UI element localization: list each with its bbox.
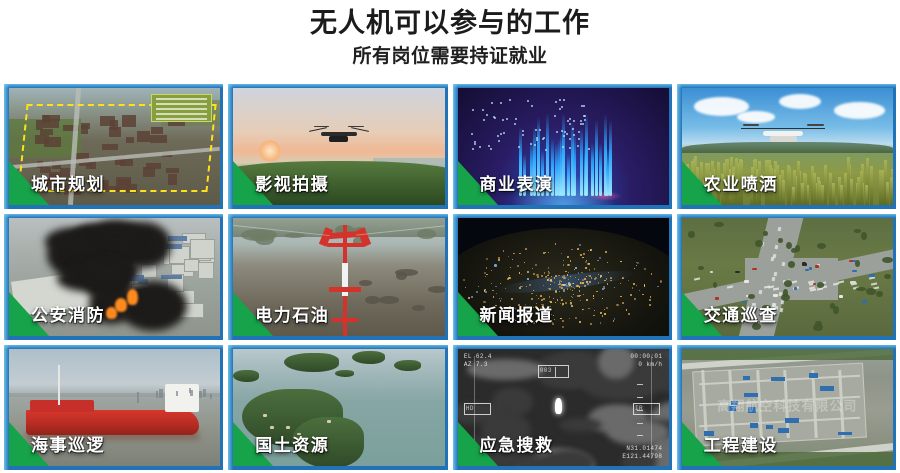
card-traffic-patrol[interactable]: 交通巡查	[677, 214, 896, 339]
card-power-petroleum[interactable]: 电力石油	[228, 214, 447, 339]
card-news-reporting[interactable]: 新闻报道	[453, 214, 672, 339]
card-photo: 影视拍摄	[233, 88, 444, 205]
card-film-shooting[interactable]: 影视拍摄	[228, 84, 447, 209]
card-engineering-construction[interactable]: 高翔航空科技有限公司工程建设	[677, 345, 896, 470]
card-photo: 新闻报道	[458, 218, 669, 335]
card-commercial-performance[interactable]: 商业表演	[453, 84, 672, 209]
card-photo: 海事巡逻	[9, 349, 220, 466]
card-police-firefighting[interactable]: 公安消防	[4, 214, 223, 339]
card-label: 商业表演	[480, 170, 554, 195]
card-photo: 高翔航空科技有限公司工程建设	[682, 349, 893, 466]
card-photo: 农业喷洒	[682, 88, 893, 205]
card-label: 工程建设	[704, 431, 778, 456]
slide-root: 无人机可以参与的工作 所有岗位需要持证就业 城市规划影视拍摄商业表演农业喷洒公安…	[0, 0, 900, 473]
card-photo: 城市规划	[9, 88, 220, 205]
card-label: 新闻报道	[480, 301, 554, 326]
heading-block: 无人机可以参与的工作 所有岗位需要持证就业	[0, 0, 900, 84]
card-label: 影视拍摄	[255, 170, 329, 195]
card-land-resources[interactable]: 国土资源	[228, 345, 447, 470]
image-watermark: 高翔航空科技有限公司	[717, 395, 857, 414]
card-photo: EL 62.4 AZ 7.300:00:01 0 km/h55.8RN31.01…	[458, 349, 669, 466]
page-subtitle: 所有岗位需要持证就业	[0, 40, 900, 70]
card-label: 国土资源	[255, 431, 329, 456]
card-label: 电力石油	[255, 301, 329, 326]
card-label: 应急搜救	[480, 431, 554, 456]
page-title: 无人机可以参与的工作	[0, 0, 900, 40]
card-label: 农业喷洒	[704, 170, 778, 195]
card-photo: 交通巡查	[682, 218, 893, 335]
card-photo: 商业表演	[458, 88, 669, 205]
card-maritime-patrol[interactable]: 海事巡逻	[4, 345, 223, 470]
card-emergency-rescue[interactable]: EL 62.4 AZ 7.300:00:01 0 km/h55.8RN31.01…	[453, 345, 672, 470]
card-agricultural-spraying[interactable]: 农业喷洒	[677, 84, 896, 209]
card-label: 城市规划	[31, 170, 105, 195]
job-card-grid: 城市规划影视拍摄商业表演农业喷洒公安消防电力石油新闻报道交通巡查海事巡逻国土资源…	[4, 84, 896, 470]
card-photo: 公安消防	[9, 218, 220, 335]
card-photo: 国土资源	[233, 349, 444, 466]
card-urban-planning[interactable]: 城市规划	[4, 84, 223, 209]
card-label: 公安消防	[31, 301, 105, 326]
card-photo: 电力石油	[233, 218, 444, 335]
card-label: 海事巡逻	[31, 431, 105, 456]
card-label: 交通巡查	[704, 301, 778, 326]
